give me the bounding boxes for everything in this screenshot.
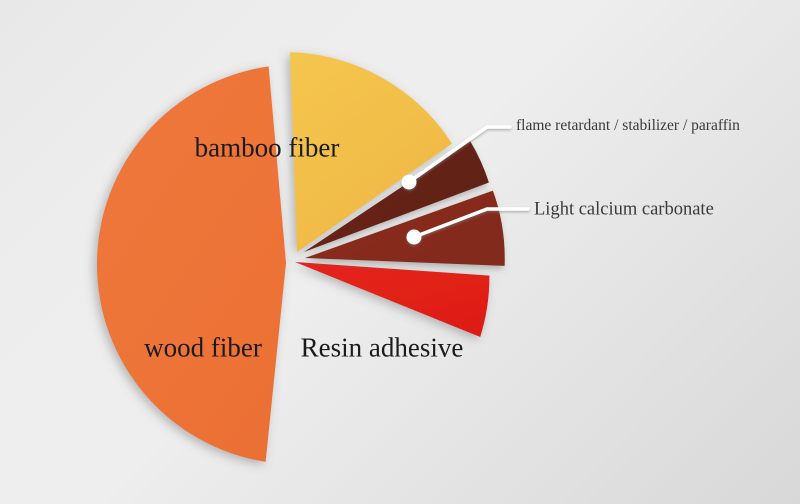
callout-label-light-calcium-carbonate: Light calcium carbonate xyxy=(534,200,714,221)
callout-dot-light-calcium-carbonate xyxy=(407,230,422,245)
pie-slice-wood-fiber[interactable] xyxy=(97,66,286,462)
callout-label-flame-retardant: flame retardant / stabilizer / paraffin xyxy=(516,117,740,135)
pie-chart-canvas: bamboo fiber wood fiber Resin adhesive f… xyxy=(0,0,800,504)
callout-dot-flame-retardant xyxy=(402,175,417,190)
pie-chart-svg xyxy=(0,0,800,504)
pie-slice-resin-adhesive[interactable] xyxy=(295,262,489,337)
